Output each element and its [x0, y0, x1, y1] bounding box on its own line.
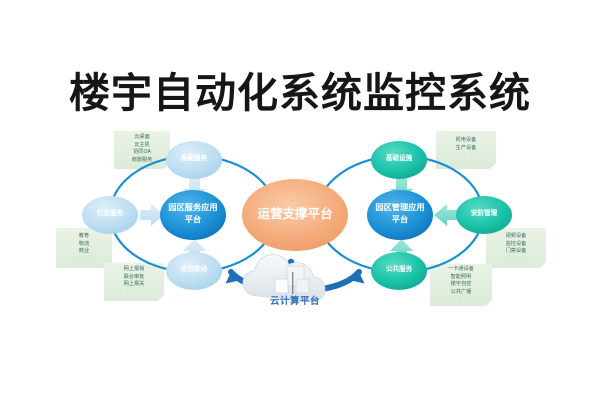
diagram-vector-layer: [0, 0, 600, 400]
annotation-ellipsis: · · ·: [436, 152, 496, 160]
diagram-canvas: 楼宇自动化系统监控系统: [0, 0, 600, 400]
node-left-top: [166, 141, 222, 179]
annotation-line: 楼宇自控: [430, 281, 492, 289]
arrow-right-side-left: [434, 204, 458, 226]
annotation-line: 协同OA: [114, 149, 170, 157]
annotation-text-top-left: 云桌面云主机协同OA商旅服务· · ·: [114, 134, 170, 172]
node-left-side: [82, 196, 138, 234]
annotation-line: 公共广播: [430, 289, 492, 297]
annotation-line: 视频设备: [486, 233, 546, 241]
annotation-line: 监控设备: [486, 241, 546, 249]
annotation-line: 云桌面: [114, 134, 170, 142]
annotation-line: 商业: [56, 248, 112, 256]
annotation-ellipsis: · · ·: [114, 164, 170, 172]
annotation-line: 机电设备: [436, 137, 496, 145]
center-platform: [242, 179, 348, 251]
annotation-text-bottom-left: 网上报销联合审批网上报关· · ·: [104, 266, 164, 296]
annotation-line: 智能照明: [430, 274, 492, 282]
node-right-bottom: [371, 252, 427, 290]
annotation-line: 生产设备: [436, 145, 496, 153]
annotation-text-mid-right: 视频设备监控设备门禁设备· · ·: [486, 233, 546, 263]
annotation-line: 联合审批: [104, 274, 164, 282]
annotation-line: 商旅服务: [114, 157, 170, 165]
annotation-line: 云主机: [114, 142, 170, 150]
node-left-bottom: [166, 252, 222, 290]
annotation-text-bottom-right: 一卡通设备智能照明楼宇自控公共广播· · ·: [430, 266, 492, 304]
annotation-line: 物流: [56, 241, 112, 249]
annotation-line: 网上报销: [104, 266, 164, 274]
annotation-text-mid-left: 教育物流商业· · ·: [56, 233, 112, 263]
annotation-text-top-right: 机电设备生产设备· · ·: [436, 137, 496, 160]
annotation-line: 一卡通设备: [430, 266, 492, 274]
cloud-platform-label: 云计算平台: [245, 293, 345, 307]
hub-right: [367, 190, 433, 240]
node-right-top: [371, 141, 427, 179]
annotation-ellipsis: · · ·: [486, 256, 546, 264]
annotation-line: 网上报关: [104, 281, 164, 289]
node-right-side: [456, 196, 512, 234]
annotation-line: 门禁设备: [486, 248, 546, 256]
arrow-cloud-to-right-hub: [322, 272, 365, 289]
annotation-ellipsis: · · ·: [430, 296, 492, 304]
annotation-ellipsis: · · ·: [56, 256, 112, 264]
annotation-line: 教育: [56, 233, 112, 241]
hub-left: [160, 190, 226, 240]
annotation-ellipsis: · · ·: [104, 289, 164, 297]
